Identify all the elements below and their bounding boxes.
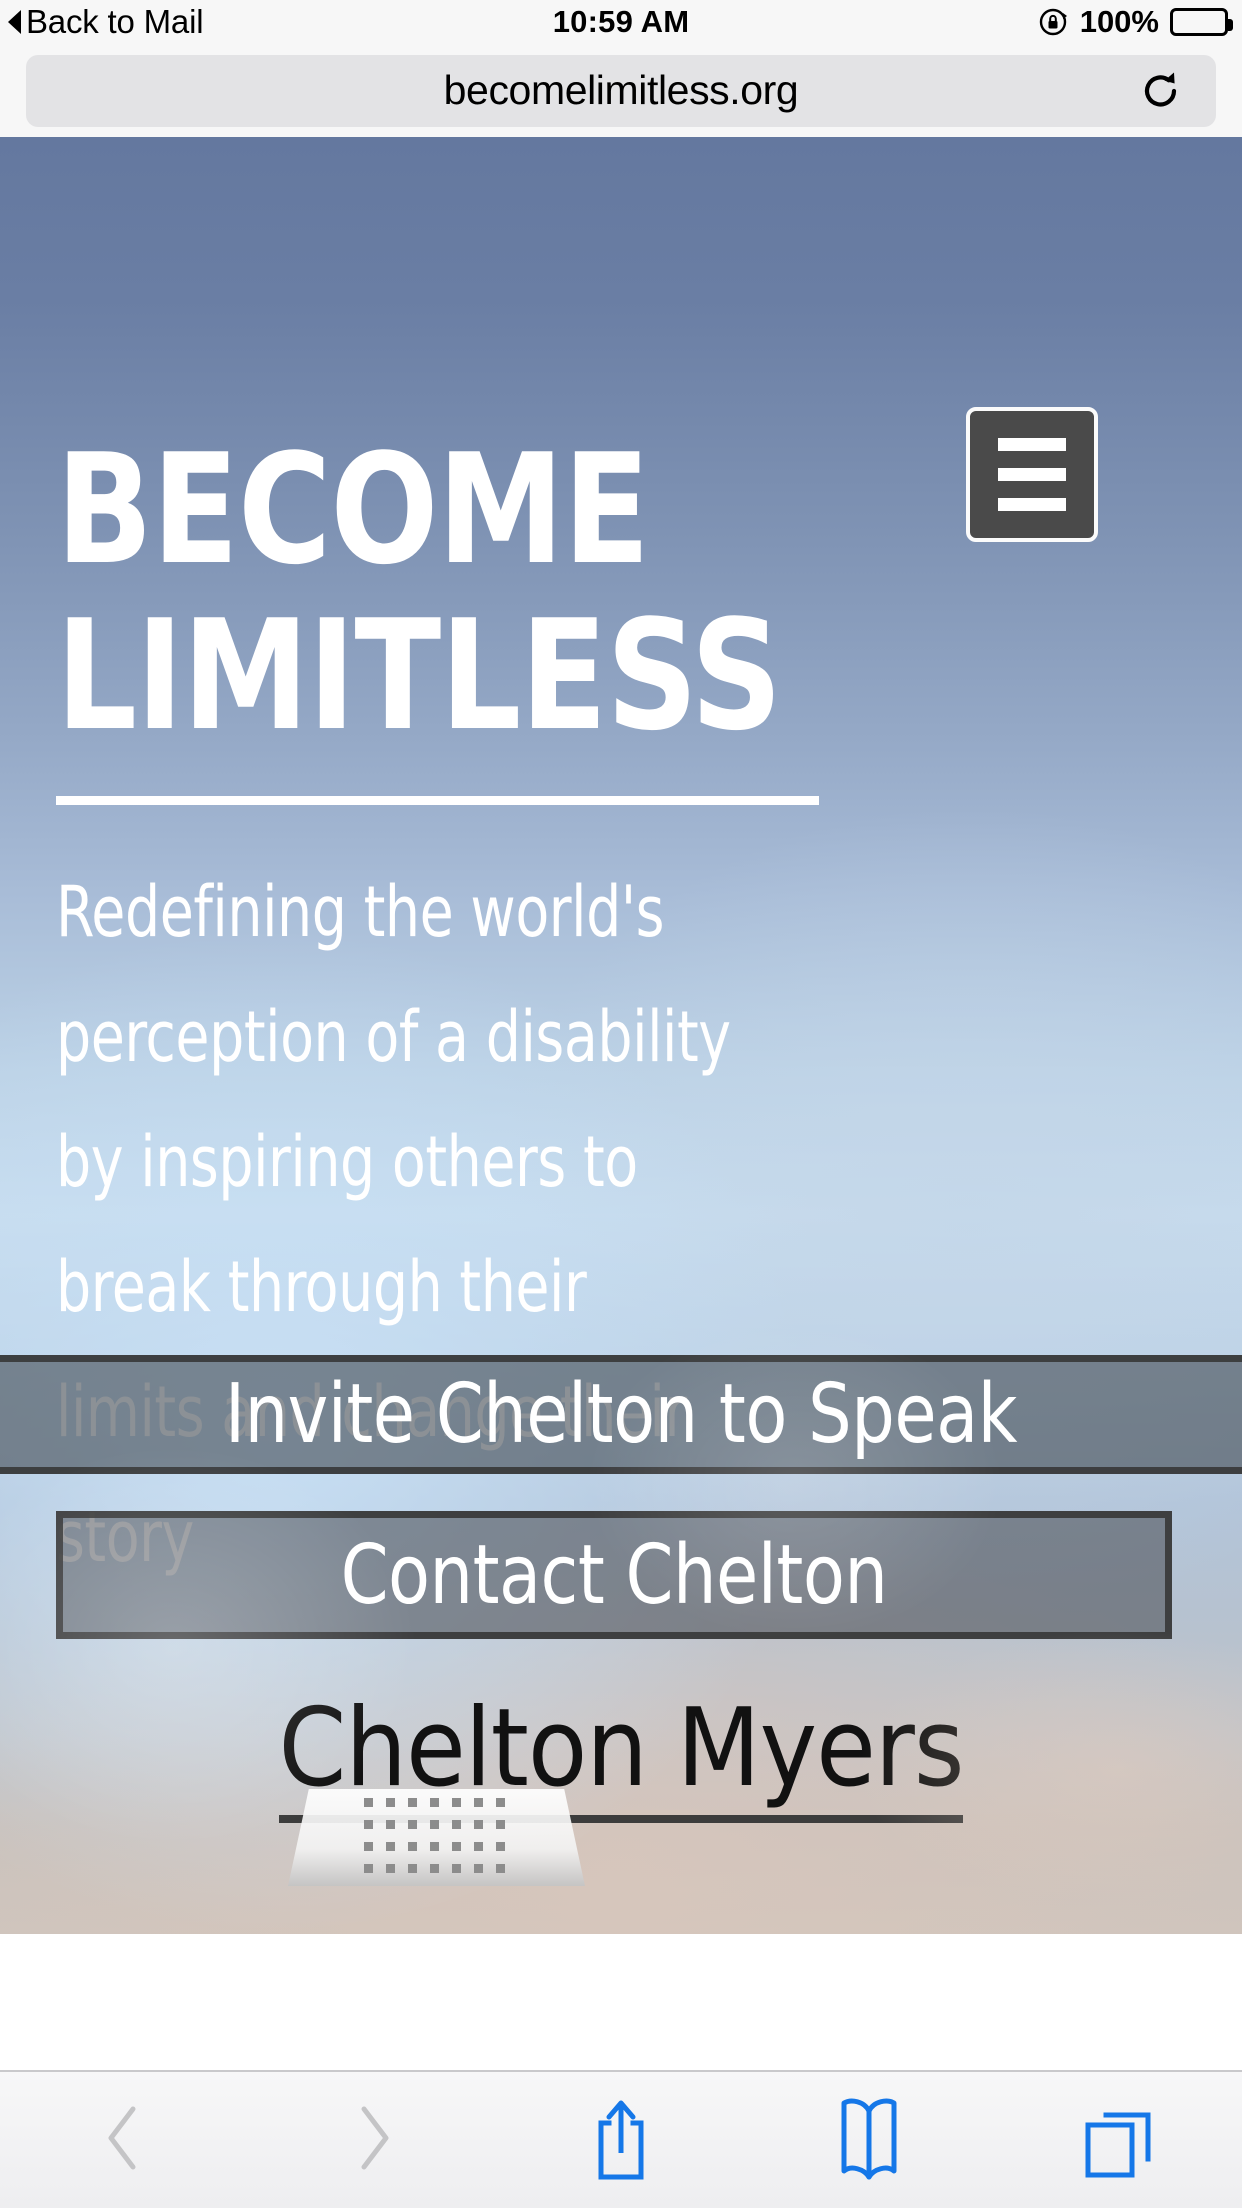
safari-url-bar: becomelimitless.org [0,44,1242,137]
browser-back-button[interactable] [0,2072,248,2208]
name-part-4: ers [816,1686,963,1811]
ios-status-bar: Back to Mail 10:59 AM 100% [0,0,1242,44]
name-part-3: My [677,1686,816,1811]
battery-full-icon [1170,8,1228,36]
reload-icon[interactable] [1136,66,1186,116]
contact-label: Contact Chelton [341,1528,888,1623]
web-page-hero: BECOME LIMITLESS Redefining the world's … [0,137,1242,1934]
safari-bottom-toolbar [0,2070,1242,2208]
drag-grip-dots-icon[interactable] [288,1789,585,1886]
tabs-icon [1080,2095,1156,2186]
person-name-heading: Chelton Myers [0,1686,1242,1811]
battery-percent-label: 100% [1080,4,1159,40]
contact-button[interactable]: Contact Chelton [56,1511,1172,1639]
headline-line-2: LIMITLESS [56,593,986,759]
chevron-right-icon [348,2103,398,2178]
bookmarks-button[interactable] [745,2072,993,2208]
status-bar-right-cluster: 100% [1039,0,1228,44]
rotation-lock-icon [1039,7,1069,37]
tabs-button[interactable] [994,2072,1242,2208]
page-title: BECOME LIMITLESS [56,427,986,759]
invite-to-speak-label: Invite Chelton to Speak [225,1367,1017,1462]
invite-to-speak-button[interactable]: Invite Chelton to Speak [0,1355,1242,1474]
clock-label: 10:59 AM [553,4,690,40]
address-field[interactable]: becomelimitless.org [26,55,1216,127]
chevron-left-icon [99,2103,149,2178]
title-divider [56,796,819,805]
share-button[interactable] [497,2072,745,2208]
browser-forward-button[interactable] [248,2072,496,2208]
url-text: becomelimitless.org [444,67,799,114]
grip-dot-grid [364,1798,509,1877]
share-up-arrow-icon [589,2095,653,2186]
headline-line-1: BECOME [56,427,986,593]
tagline-text: Redefining the world's perception of a d… [56,850,751,1600]
book-icon [834,2095,904,2186]
